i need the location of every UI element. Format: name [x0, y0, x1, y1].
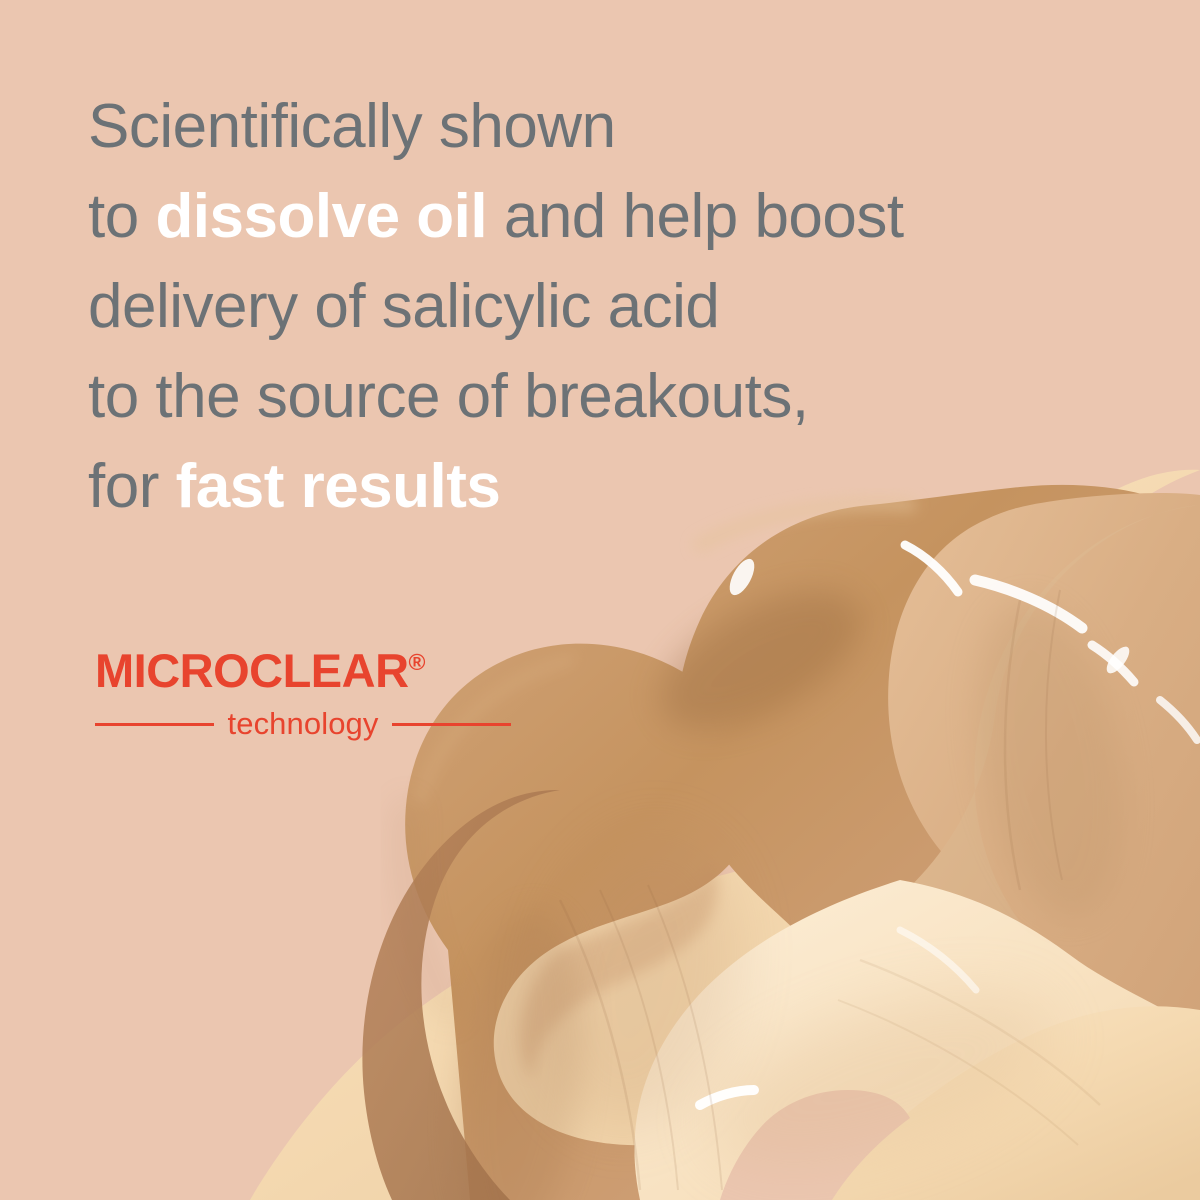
swatch-gloss-1 — [905, 545, 958, 592]
swatch-gloss-dot-1 — [725, 555, 760, 599]
headline-line-1: Scientifically shown — [88, 82, 1148, 172]
swatch-inner-shadow-a — [520, 866, 718, 1080]
swatch-shape-cream-swirl — [634, 880, 1200, 1200]
headline-emphasis-dissolve-oil: dissolve oil — [155, 182, 487, 251]
wordmark-clear: CLEAR — [249, 644, 408, 697]
swatch-shape-beige-wave — [888, 493, 1200, 1200]
headline-segment: to — [88, 182, 155, 251]
swatch-shape-cream-arm — [820, 1006, 1200, 1200]
headline-line-3: delivery of salicylic acid — [88, 262, 1148, 352]
headline-segment: and help boost — [487, 182, 904, 251]
swatch-gloss-6 — [900, 930, 976, 990]
swatch-negative-hole — [720, 1090, 910, 1200]
swatch-gloss-5 — [700, 1090, 754, 1105]
microclear-tagline: technology — [228, 707, 379, 741]
swatch-shadow-crease-1 — [638, 562, 881, 757]
swatch-shape-beige-ribbon — [640, 505, 1200, 1200]
swatch-shadow-crease-4 — [687, 958, 1073, 1200]
microclear-wordmark: MICROCLEAR® — [95, 636, 535, 697]
swatch-shape-tan-lobe — [405, 485, 1200, 1200]
wordmark-micro: MICRO — [95, 644, 249, 697]
registered-trademark-icon: ® — [409, 649, 426, 675]
headline-segment: delivery of salicylic acid — [88, 272, 719, 341]
headline-line-4: to the source of breakouts, — [88, 352, 1148, 442]
swatch-shadow-crease-2 — [516, 814, 764, 1147]
swatch-shadow-crease-3 — [953, 590, 1146, 929]
microclear-logo-lockup: MICROCLEAR® technology — [95, 636, 535, 741]
swatch-gloss-2 — [975, 580, 1082, 628]
headline-segment: to the source of breakouts, — [88, 362, 809, 431]
swatch-texture-streaks — [560, 590, 1100, 1190]
ad-canvas: Scientifically shown to dissolve oil and… — [0, 0, 1200, 1200]
swatch-gloss-4 — [1160, 700, 1197, 740]
headline-line-5: for fast results — [88, 442, 1148, 532]
tagline-rule-right — [392, 723, 511, 726]
swatch-gloss-3 — [1092, 645, 1134, 682]
swatch-shape-cream-base — [250, 470, 1200, 1200]
headline-emphasis-fast-results: fast results — [176, 452, 501, 521]
headline-segment: for — [88, 452, 176, 521]
headline-block: Scientifically shown to dissolve oil and… — [88, 82, 1148, 532]
swatch-gloss-dot-2 — [1103, 643, 1134, 677]
headline-segment: Scientifically shown — [88, 92, 616, 161]
swatch-contact-shadow — [405, 800, 455, 1020]
tagline-rule-left — [95, 723, 214, 726]
headline-line-2: to dissolve oil and help boost — [88, 172, 1148, 262]
swatch-shadow-crease-5 — [443, 905, 598, 1200]
microclear-tagline-row: technology — [95, 707, 511, 741]
swatch-shape-tan-tail — [362, 790, 560, 1200]
